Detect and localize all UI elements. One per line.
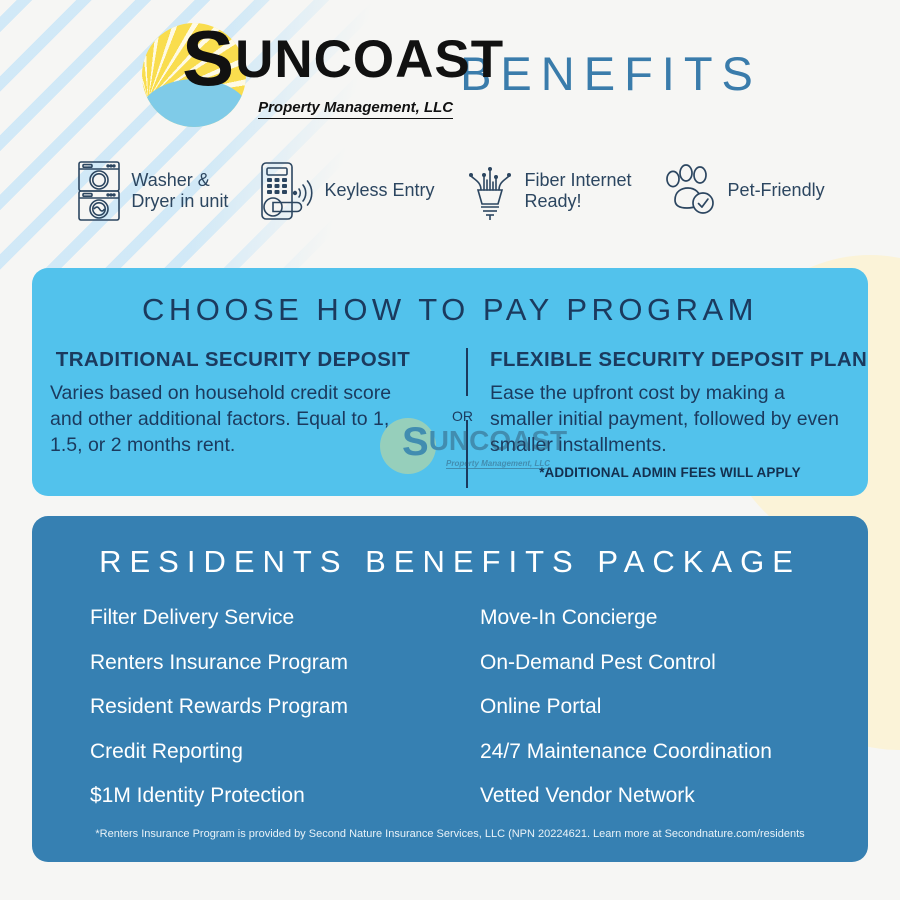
benefits-flyer: SUNCOAST Property Management, LLC BENEFI… [0,0,900,900]
admin-fees-note: *ADDITIONAL ADMIN FEES WILL APPLY [490,465,850,480]
residents-package-title: RESIDENTS BENEFITS PACKAGE [32,544,868,580]
feature-washer-dryer: Washer & Dryer in unit [75,160,228,222]
list-item: Resident Rewards Program [90,695,450,719]
feature-keyless-entry: Keyless Entry [258,160,434,222]
traditional-deposit-column: TRADITIONAL SECURITY DEPOSIT Varies base… [50,348,450,480]
or-label: OR [452,408,473,424]
feature-label: Fiber Internet Ready! [524,170,631,212]
logo-wordmark-rest: UNCOAST [235,30,504,89]
residents-benefits-right-column: Move-In Concierge On-Demand Pest Control… [450,606,810,829]
list-item: Vetted Vendor Network [480,784,810,808]
pay-program-title: CHOOSE HOW TO PAY PROGRAM [32,292,868,328]
paw-check-icon [662,162,720,220]
feature-label: Washer & Dryer in unit [131,170,228,212]
feature-label: Keyless Entry [324,180,434,201]
fiber-internet-icon [464,160,516,222]
page-header: SUNCOAST Property Management, LLC BENEFI… [0,18,900,128]
residents-benefits-left-column: Filter Delivery Service Renters Insuranc… [90,606,450,829]
or-divider-line-top [466,348,468,396]
list-item: Credit Reporting [90,740,450,764]
residents-benefits-panel: RESIDENTS BENEFITS PACKAGE Filter Delive… [32,516,868,862]
washer-dryer-icon [75,160,123,222]
list-item: Online Portal [480,695,810,719]
keyless-entry-icon [258,160,316,222]
list-item: On-Demand Pest Control [480,651,810,675]
list-item: 24/7 Maintenance Coordination [480,740,810,764]
pay-program-columns: TRADITIONAL SECURITY DEPOSIT Varies base… [32,348,868,480]
residents-footnote: *Renters Insurance Program is provided b… [32,828,868,840]
list-item: Filter Delivery Service [90,606,450,630]
page-title: BENEFITS [460,46,762,101]
feature-label: Pet-Friendly [728,180,825,201]
residents-benefits-columns: Filter Delivery Service Renters Insuranc… [32,606,868,829]
flexible-deposit-subtitle: FLEXIBLE SECURITY DEPOSIT PLAN [490,348,850,372]
choose-how-to-pay-panel: CHOOSE HOW TO PAY PROGRAM TRADITIONAL SE… [32,268,868,496]
logo-wordmark: SUNCOAST [182,27,504,89]
feature-fiber-internet: Fiber Internet Ready! [464,160,631,222]
list-item: Renters Insurance Program [90,651,450,675]
list-item: Move-In Concierge [480,606,810,630]
flexible-deposit-column: FLEXIBLE SECURITY DEPOSIT PLAN Ease the … [450,348,850,480]
traditional-deposit-body: Varies based on household credit score a… [50,381,416,459]
suncoast-logo: SUNCOAST Property Management, LLC [138,21,438,126]
logo-tagline: Property Management, LLC [258,99,453,119]
feature-pet-friendly: Pet-Friendly [662,162,825,220]
flexible-deposit-body: Ease the upfront cost by making a smalle… [490,381,850,459]
logo-initial: S [182,14,235,102]
list-item: $1M Identity Protection [90,784,450,808]
traditional-deposit-subtitle: TRADITIONAL SECURITY DEPOSIT [50,348,416,372]
or-divider-line-bottom [466,420,468,488]
feature-highlights-row: Washer & Dryer in unit [0,160,900,222]
